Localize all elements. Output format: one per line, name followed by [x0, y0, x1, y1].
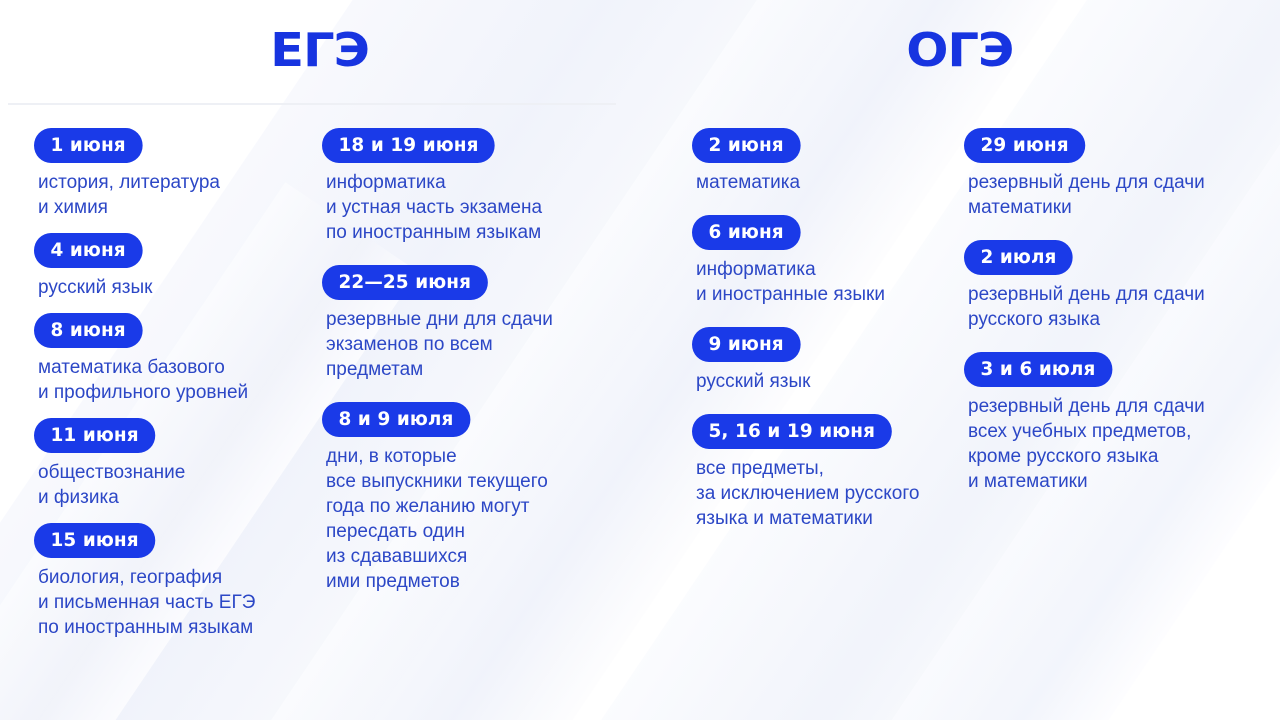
- schedule-entry: 2 июлярезервный день для сдачи русского …: [964, 240, 1280, 332]
- section-oge: ОГЭ 2 июняматематика6 июняинформатика и …: [640, 0, 1280, 720]
- section-title-ege: ЕГЭ: [0, 26, 678, 74]
- entry-description: резервные дни для сдачи экзаменов по все…: [326, 307, 640, 382]
- section-ege: ЕГЭ 1 июняистория, литература и химия4 и…: [0, 0, 640, 720]
- entry-description: математика: [696, 170, 950, 195]
- entry-description: биология, география и письменная часть Е…: [38, 565, 310, 640]
- date-badge: 1 июня: [34, 128, 142, 163]
- entry-description: дни, в которые все выпускники текущего г…: [326, 444, 640, 594]
- schedule-entry: 9 июнярусский язык: [692, 327, 950, 394]
- date-badge: 18 и 19 июня: [322, 128, 495, 163]
- entry-description: русский язык: [38, 275, 310, 300]
- section-title-oge: ОГЭ: [614, 26, 1280, 74]
- date-badge: 9 июня: [692, 327, 800, 362]
- entry-description: резервный день для сдачи всех учебных пр…: [968, 394, 1280, 494]
- schedule-entry: 8 и 9 июлядни, в которые все выпускники …: [322, 402, 640, 594]
- entry-description: резервный день для сдачи русского языка: [968, 282, 1280, 332]
- date-badge: 4 июня: [34, 233, 142, 268]
- schedule-entry: 6 июняинформатика и иностранные языки: [692, 215, 950, 307]
- columns-oge: 2 июняматематика6 июняинформатика и инос…: [640, 128, 1280, 551]
- schedule-entry: 4 июнярусский язык: [34, 233, 310, 300]
- exam-schedule-infographic: ЕГЭ 1 июняистория, литература и химия4 и…: [0, 0, 1280, 720]
- entry-description: информатика и устная часть экзамена по и…: [326, 170, 640, 245]
- entry-description: резервный день для сдачи математики: [968, 170, 1280, 220]
- column-ege-2: 18 и 19 июняинформатика и устная часть э…: [310, 128, 640, 653]
- column-oge-1: 2 июняматематика6 июняинформатика и инос…: [640, 128, 950, 551]
- date-badge: 15 июня: [34, 523, 155, 558]
- date-badge: 6 июня: [692, 215, 800, 250]
- schedule-entry: 3 и 6 июлярезервный день для сдачи всех …: [964, 352, 1280, 494]
- schedule-entry: 2 июняматематика: [692, 128, 950, 195]
- column-ege-1: 1 июняистория, литература и химия4 июняр…: [0, 128, 310, 653]
- schedule-entry: 5, 16 и 19 июнявсе предметы, за исключен…: [692, 414, 950, 531]
- schedule-entry: 29 июнярезервный день для сдачи математи…: [964, 128, 1280, 220]
- date-badge: 8 и 9 июля: [322, 402, 470, 437]
- schedule-entry: 15 июнябиология, география и письменная …: [34, 523, 310, 640]
- entry-description: русский язык: [696, 369, 950, 394]
- date-badge: 2 июля: [964, 240, 1073, 275]
- section-divider-ege: [8, 103, 616, 105]
- schedule-entry: 22—25 июнярезервные дни для сдачи экзаме…: [322, 265, 640, 382]
- schedule-entry: 8 июняматематика базового и профильного …: [34, 313, 310, 405]
- date-badge: 5, 16 и 19 июня: [692, 414, 892, 449]
- entry-description: все предметы, за исключением русского яз…: [696, 456, 950, 531]
- date-badge: 11 июня: [34, 418, 155, 453]
- date-badge: 3 и 6 июля: [964, 352, 1112, 387]
- entry-description: обществознание и физика: [38, 460, 310, 510]
- schedule-entry: 18 и 19 июняинформатика и устная часть э…: [322, 128, 640, 245]
- entry-description: история, литература и химия: [38, 170, 310, 220]
- entry-description: информатика и иностранные языки: [696, 257, 950, 307]
- date-badge: 8 июня: [34, 313, 142, 348]
- schedule-entry: 11 июняобществознание и физика: [34, 418, 310, 510]
- date-badge: 22—25 июня: [322, 265, 487, 300]
- columns-ege: 1 июняистория, литература и химия4 июняр…: [0, 128, 640, 653]
- column-oge-2: 29 июнярезервный день для сдачи математи…: [950, 128, 1280, 551]
- schedule-entry: 1 июняистория, литература и химия: [34, 128, 310, 220]
- date-badge: 2 июня: [692, 128, 800, 163]
- date-badge: 29 июня: [964, 128, 1085, 163]
- entry-description: математика базового и профильного уровне…: [38, 355, 310, 405]
